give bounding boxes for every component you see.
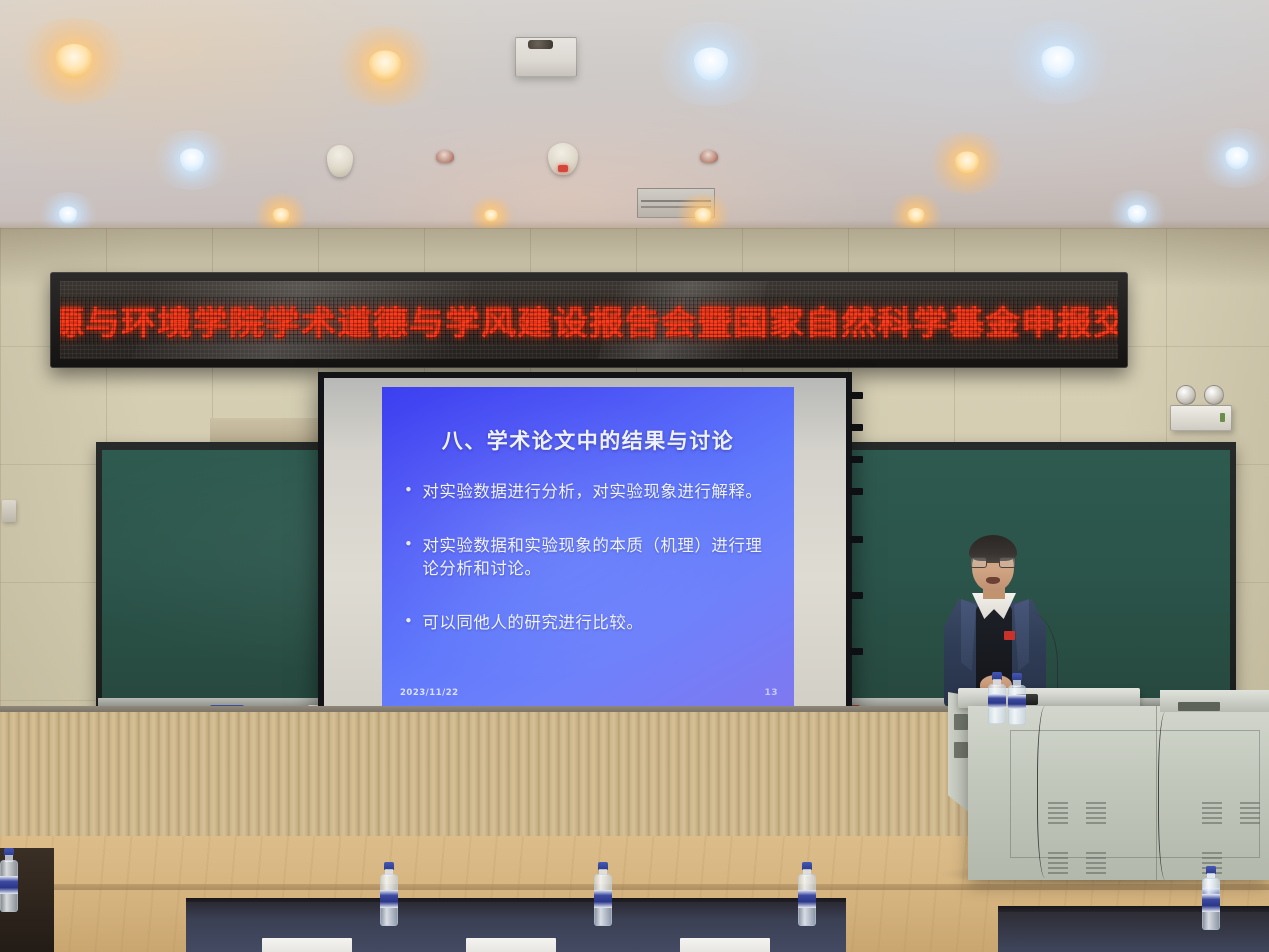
slide-bullet-list: • 对实验数据进行分析，对实验现象进行解释。 • 对实验数据和实验现象的本质（机… <box>404 481 778 666</box>
smoke-detector <box>327 145 353 177</box>
slide-title: 八、学术论文中的结果与讨论 <box>382 425 794 455</box>
screen-mount-hook <box>850 392 863 399</box>
screen-mount-hook <box>850 536 863 543</box>
bullet-marker-icon: • <box>404 481 413 503</box>
ceiling-light-cool <box>1000 20 1116 104</box>
podium-side-slot <box>954 742 968 758</box>
ceiling-light-warm <box>14 18 134 104</box>
projection-screen-surface: 八、学术论文中的结果与讨论 • 对实验数据进行分析，对实验现象进行解释。 • 对… <box>324 378 846 710</box>
podium-desktop <box>958 688 1140 708</box>
ceiling-light-cool <box>652 22 770 106</box>
emergency-status-led <box>1220 413 1225 422</box>
projection-screen: 八、学术论文中的结果与讨论 • 对实验数据进行分析，对实验现象进行解释。 • 对… <box>318 372 852 716</box>
sprinkler-head <box>700 150 718 163</box>
ceiling-light-warm <box>924 132 1010 194</box>
bullet-marker-icon: • <box>404 612 413 634</box>
ceiling-projector-box <box>515 37 577 77</box>
ceiling-light-warm <box>330 26 440 106</box>
led-banner-text: 新能源与环境学院学术道德与学风建设报告会暨国家自然科学基金申报交流会 <box>60 297 1118 344</box>
screen-mount-hook <box>850 648 863 655</box>
lecture-hall-photo: 新能源与环境学院学术道德与学风建设报告会暨国家自然科学基金申报交流会 八、学术论… <box>0 0 1269 952</box>
slide-bullet: • 对实验数据进行分析，对实验现象进行解释。 <box>404 481 778 503</box>
wall-emergency-light <box>1170 385 1232 431</box>
slide-bullet: • 可以同他人的研究进行比较。 <box>404 612 778 634</box>
name-card <box>262 938 352 952</box>
podium-cable <box>1158 712 1176 880</box>
name-card <box>680 938 770 952</box>
slide-bullet-text: 可以同他人的研究进行比较。 <box>422 612 778 634</box>
ceiling-light-cool <box>1196 128 1269 188</box>
smoke-detector-alarm <box>548 143 578 175</box>
led-banner-screen: 新能源与环境学院学术道德与学风建设报告会暨国家自然科学基金申报交流会 <box>60 281 1118 359</box>
slide-bullet: • 对实验数据和实验现象的本质（机理）进行理论分析和讨论。 <box>404 535 778 580</box>
podium-seam <box>1156 706 1157 880</box>
slide-bullet-text: 对实验数据和实验现象的本质（机理）进行理论分析和讨论。 <box>422 535 778 580</box>
emergency-light-body <box>1170 405 1232 431</box>
podium-vent <box>1086 802 1106 826</box>
wall-sensor <box>2 500 16 522</box>
bullet-marker-icon: • <box>404 535 413 580</box>
presentation-slide: 八、学术论文中的结果与讨论 • 对实验数据进行分析，对实验现象进行解释。 • 对… <box>382 387 794 709</box>
slide-page-number: 13 <box>764 688 778 698</box>
screen-mount-hook <box>850 592 863 599</box>
screen-mount-hook <box>850 488 863 495</box>
screen-mount-hook <box>850 424 863 431</box>
ceiling-light-cool <box>150 130 234 190</box>
emergency-lamp-left <box>1176 385 1196 405</box>
glasses-icon <box>970 557 1016 568</box>
slide-footer: 2023/11/22 13 <box>400 688 778 698</box>
podium-vent <box>1202 802 1222 826</box>
side-desk-slot <box>1178 702 1220 711</box>
ceiling <box>0 0 1269 236</box>
front-table-right <box>998 912 1269 952</box>
led-banner: 新能源与环境学院学术道德与学风建设报告会暨国家自然科学基金申报交流会 <box>50 272 1128 368</box>
sprinkler-head <box>436 150 454 163</box>
podium-side-slot <box>954 714 968 730</box>
name-card <box>466 938 556 952</box>
speaker-mouth <box>986 577 1000 584</box>
podium-vent <box>1240 802 1260 826</box>
screen-mount-hook <box>850 456 863 463</box>
slide-date: 2023/11/22 <box>400 688 459 698</box>
slide-bullet-text: 对实验数据进行分析，对实验现象进行解释。 <box>422 481 778 503</box>
podium-cable <box>1037 706 1057 878</box>
podium-vent <box>1086 852 1106 876</box>
emergency-lamp-right <box>1204 385 1224 405</box>
projector-lens <box>528 40 553 50</box>
